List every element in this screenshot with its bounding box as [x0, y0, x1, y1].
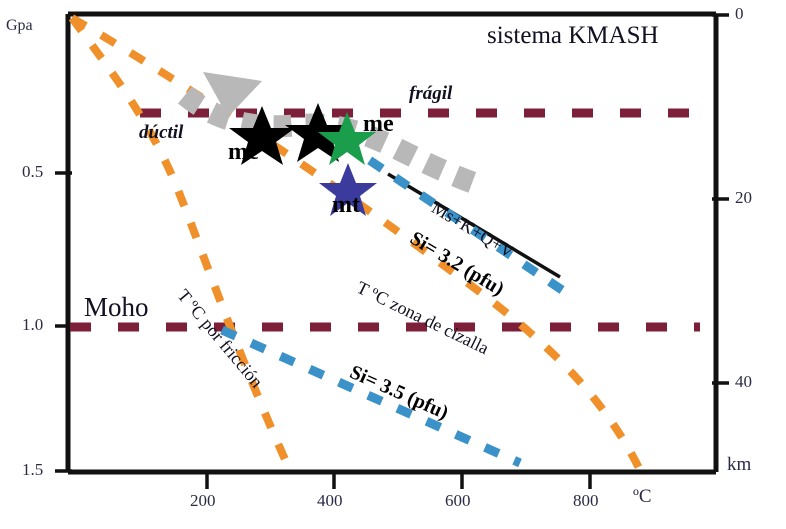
bottom-axis-ticks	[207, 472, 590, 489]
right-axis-unit-label: km	[727, 455, 751, 474]
bottom-tick-label-3: 800	[573, 492, 599, 509]
mt-label: mt	[332, 193, 360, 217]
plot-frame	[68, 14, 716, 472]
bottom-tick-label-2: 600	[445, 492, 471, 509]
left-tick-label-2: 1.5	[22, 461, 43, 478]
moho-label: Moho	[84, 294, 149, 321]
right-tick-label-0: 0	[735, 5, 744, 22]
left-tick-label-1: 1.0	[22, 316, 43, 333]
fragil-label: frágil	[409, 84, 452, 103]
mc-label: mc	[228, 140, 259, 164]
figure-canvas	[0, 0, 786, 529]
right-tick-label-2: 40	[735, 373, 752, 390]
bottom-axis-unit-label: ºC	[633, 487, 652, 506]
right-tick-label-1: 20	[735, 189, 752, 206]
ductil-label: dúctil	[139, 123, 183, 142]
figure-container: Gpa 0.5 1.0 1.5 200 400 600 800 ºC 0 20 …	[0, 0, 786, 529]
bottom-tick-label-1: 400	[317, 492, 343, 509]
me-label: me	[363, 112, 394, 136]
left-axis-unit-label: Gpa	[6, 18, 33, 34]
bottom-tick-label-0: 200	[190, 492, 216, 509]
figure-title: sistema KMASH	[487, 23, 659, 48]
shear-zone-temperature-curve	[72, 18, 640, 470]
left-tick-label-0: 0.5	[22, 163, 43, 180]
